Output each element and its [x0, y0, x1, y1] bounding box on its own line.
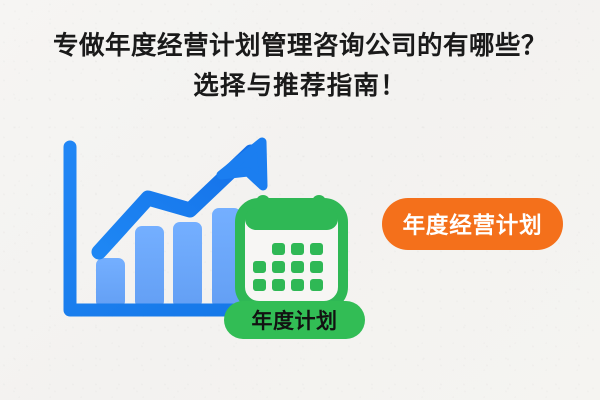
page-title-line-2: 选择与推荐指南！ — [0, 66, 600, 106]
badge-annual-business-plan: 年度经营计划 — [382, 198, 563, 250]
bar-1 — [96, 258, 125, 308]
calendar-icon — [240, 195, 343, 306]
calendar-header — [245, 208, 338, 230]
screenshot-canvas: 专做年度经营计划管理咨询公司的有哪些？ 选择与推荐指南！ 年度计划 年度经营计划 — [0, 0, 600, 400]
badge-annual-plan: 年度计划 — [224, 301, 365, 339]
page-title: 专做年度经营计划管理咨询公司的有哪些？ 选择与推荐指南！ — [0, 26, 600, 106]
bar-3 — [173, 222, 202, 308]
page-title-line-1: 专做年度经营计划管理咨询公司的有哪些？ — [0, 26, 600, 66]
bar-2 — [135, 226, 164, 308]
